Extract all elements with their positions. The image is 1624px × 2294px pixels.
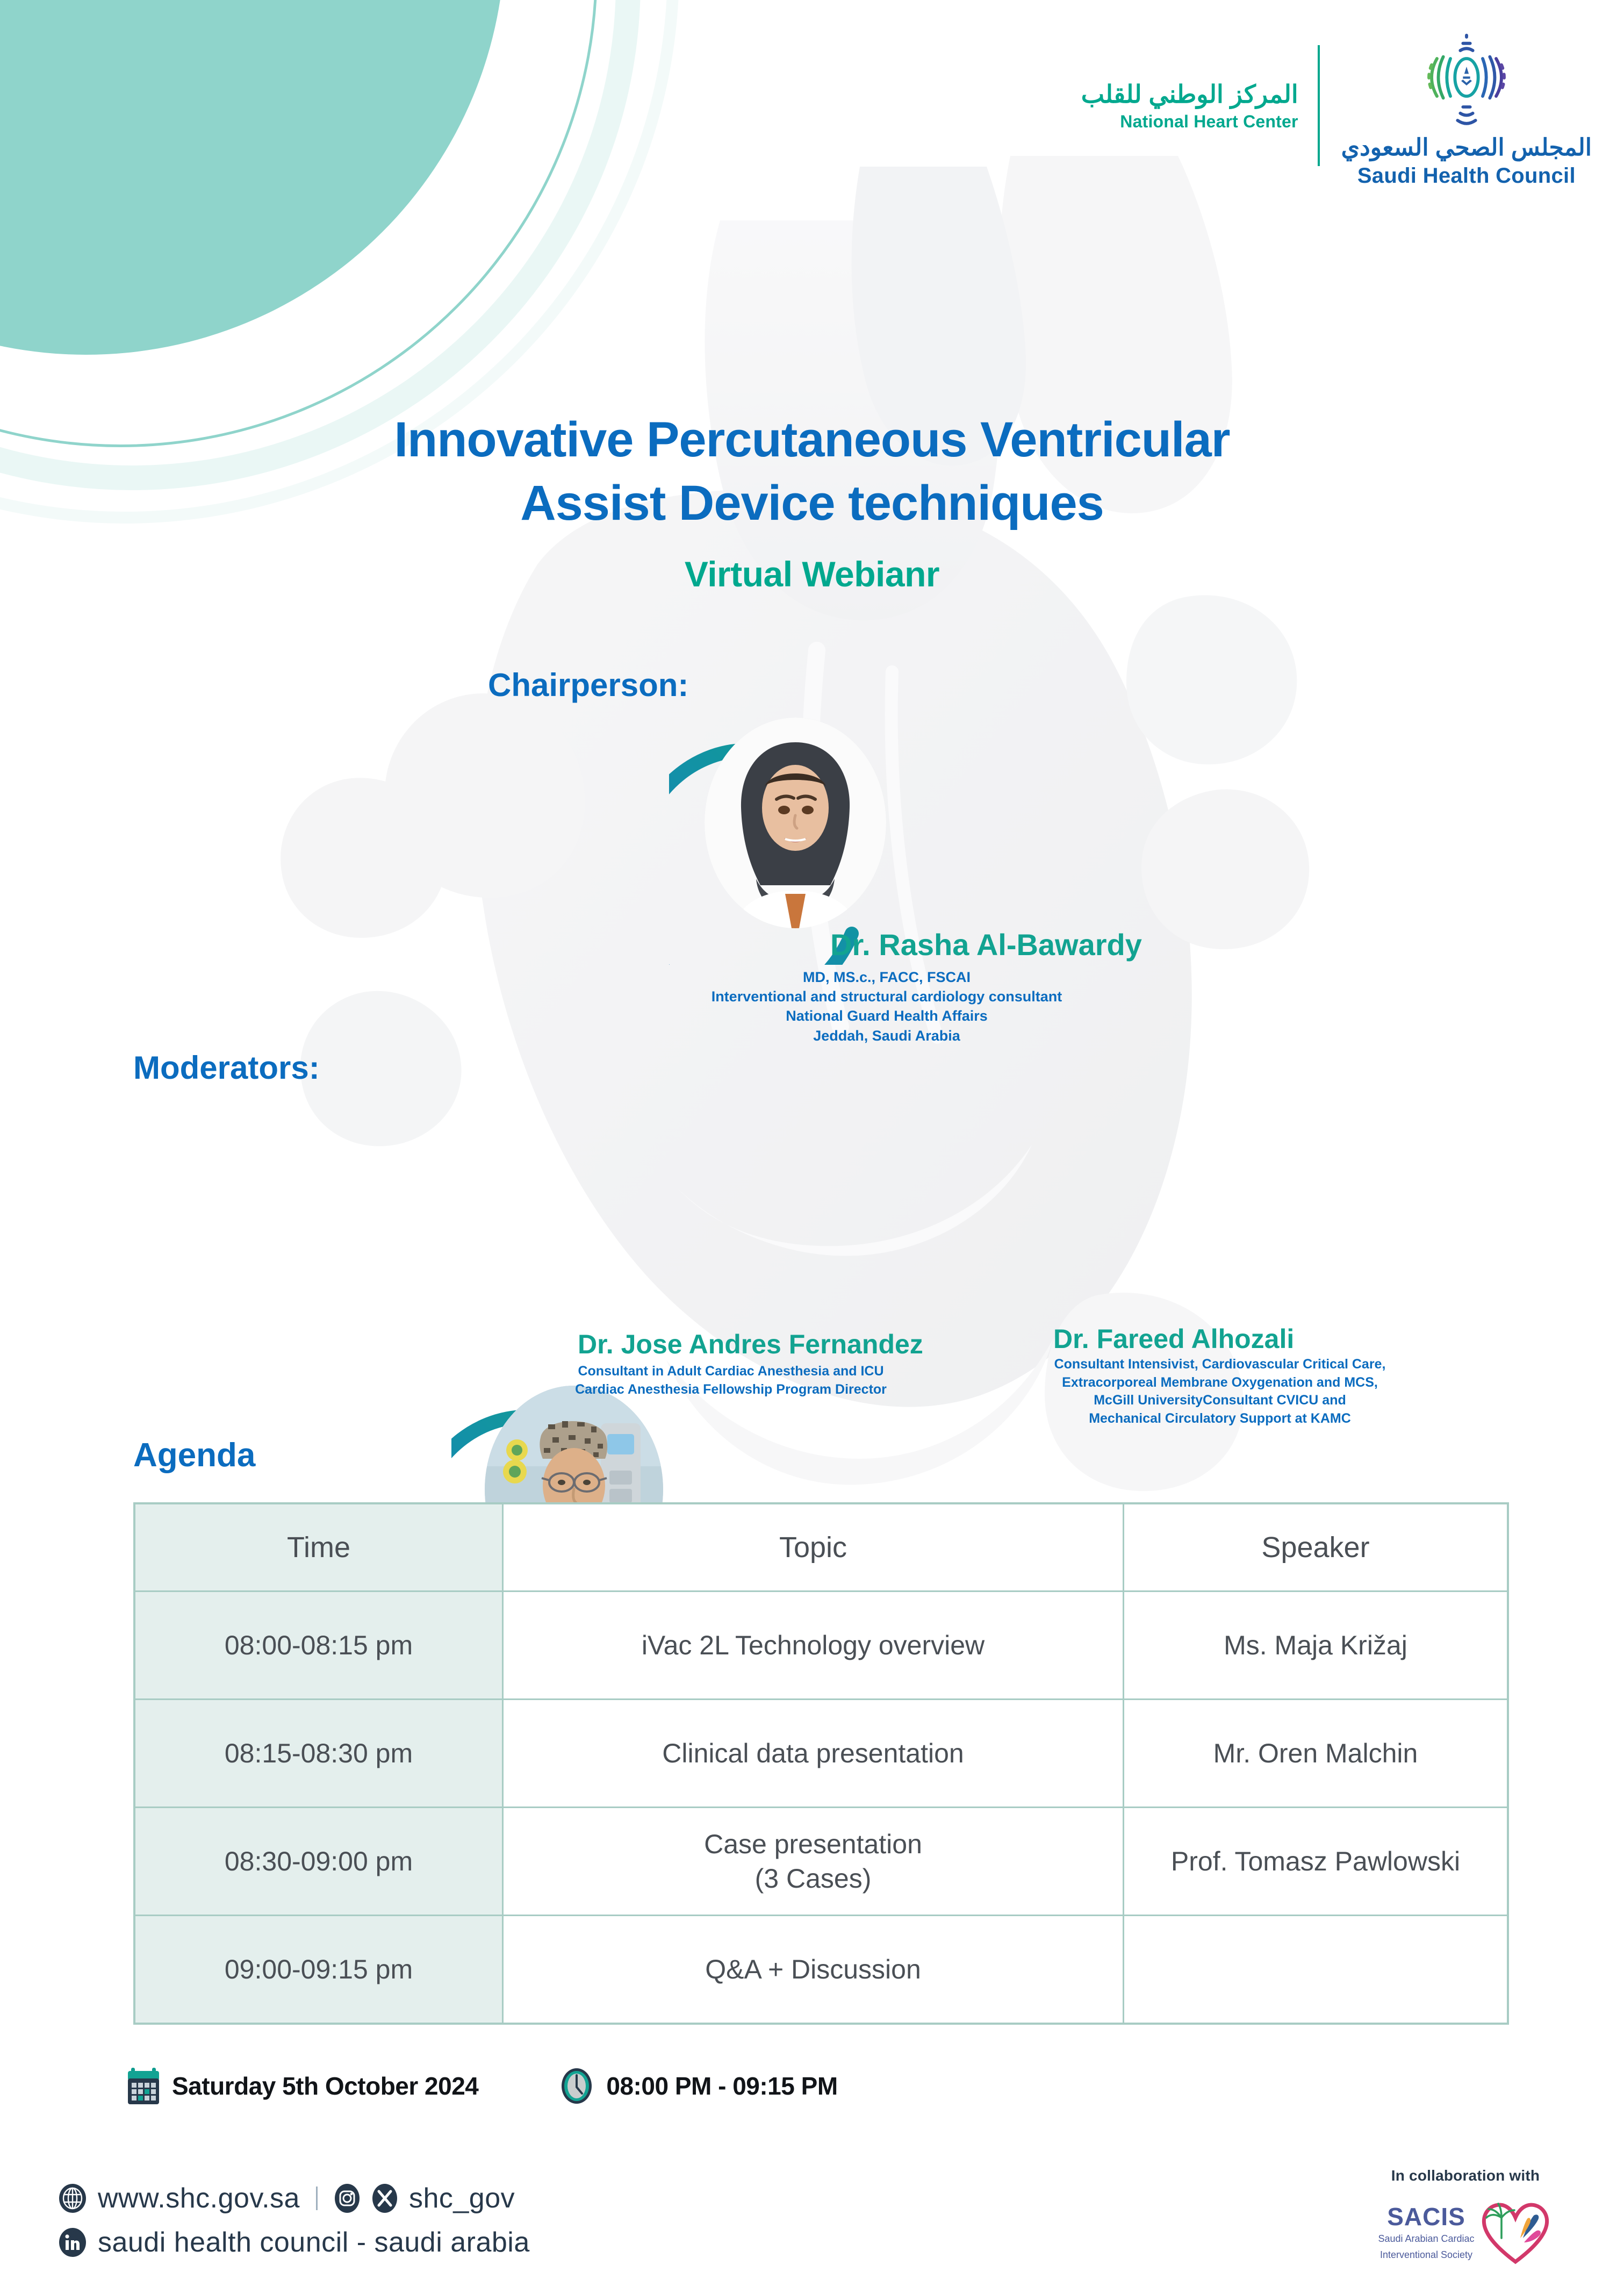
event-time-item: 08:00 PM - 09:15 PM	[559, 2067, 837, 2105]
agenda-heading: Agenda	[133, 1436, 255, 1474]
chairperson-name: Dr. Rasha Al-Bawardy	[830, 927, 1142, 962]
event-date-text: Saturday 5th October 2024	[172, 2071, 478, 2101]
moderator-1-credentials: Consultant in Adult Cardiac Anesthesia a…	[537, 1363, 924, 1399]
sacis-name-line-2: Interventional Society	[1380, 2248, 1472, 2261]
shc-arabic-name: المجلس الصحي السعودي	[1341, 134, 1592, 162]
event-datetime-row: Saturday 5th October 2024 08:00 PM - 09:…	[127, 2067, 838, 2105]
sacis-abbr: SACIS	[1387, 2204, 1465, 2229]
footer-contact: www.shc.gov.sa shc_gov saudi health coun…	[58, 2182, 530, 2270]
shc-english-name: Saudi Health Council	[1357, 164, 1576, 188]
cell-speaker	[1124, 1916, 1508, 2024]
table-row: 08:00-08:15 pm iVac 2L Technology overvi…	[134, 1592, 1508, 1700]
chairperson-portrait	[669, 691, 922, 965]
cell-speaker: Mr. Oren Malchin	[1124, 1700, 1508, 1808]
header-logos: المركز الوطني للقلب National Heart Cente…	[1081, 24, 1592, 188]
agenda-header-row: Time Topic Speaker	[134, 1503, 1508, 1592]
shc-emblem-icon	[1413, 24, 1520, 131]
footer-row-linkedin: saudi health council - saudi arabia	[58, 2226, 530, 2259]
x-twitter-icon[interactable]	[371, 2183, 398, 2214]
cell-topic: Clinical data presentation	[503, 1700, 1124, 1808]
table-row: 08:30-09:00 pm Case presentation (3 Case…	[134, 1808, 1508, 1916]
national-heart-center-logo: المركز الوطني للقلب National Heart Cente…	[1081, 80, 1318, 132]
sacis-wordmark: SACIS Saudi Arabian Cardiac Intervention…	[1378, 2204, 1474, 2262]
cell-time: 08:15-08:30 pm	[134, 1700, 503, 1808]
cell-topic: iVac 2L Technology overview	[503, 1592, 1124, 1700]
chairperson-credentials: MD, MS.c., FACC, FSCAI Interventional an…	[602, 967, 1172, 1045]
corner-arc-thin-teal	[0, 0, 598, 447]
moderator-2-credentials: Consultant Intensivist, Cardiovascular C…	[978, 1356, 1462, 1428]
website-text[interactable]: www.shc.gov.sa	[98, 2182, 300, 2214]
footer-row-web: www.shc.gov.sa shc_gov	[58, 2182, 530, 2214]
footer-divider	[316, 2187, 318, 2210]
poster-title-block: Innovative Percutaneous Ventricular Assi…	[0, 408, 1624, 594]
cell-topic: Case presentation (3 Cases)	[503, 1808, 1124, 1916]
column-header-topic: Topic	[503, 1503, 1124, 1592]
linkedin-icon[interactable]	[58, 2227, 87, 2258]
saudi-health-council-logo: المجلس الصحي السعودي Saudi Health Counci…	[1320, 24, 1592, 188]
moderators-label: Moderators:	[133, 1049, 320, 1086]
title-line-1: Innovative Percutaneous Ventricular	[0, 408, 1624, 472]
column-header-speaker: Speaker	[1124, 1503, 1508, 1592]
column-header-time: Time	[134, 1503, 503, 1592]
corner-arc-solid	[0, 0, 505, 355]
chairperson-photo	[705, 718, 886, 928]
collaboration-block: In collaboration with SACIS Saudi Arabia…	[1339, 2167, 1592, 2267]
cell-speaker: Prof. Tomasz Pawlowski	[1124, 1808, 1508, 1916]
agenda-table-head: Time Topic Speaker	[134, 1503, 1508, 1592]
clock-icon	[559, 2067, 594, 2105]
sacis-heart-icon	[1478, 2198, 1553, 2267]
sacis-logo: SACIS Saudi Arabian Cardiac Intervention…	[1339, 2198, 1592, 2267]
title-line-2: Assist Device techniques	[0, 472, 1624, 535]
globe-icon[interactable]	[58, 2183, 87, 2214]
collaboration-caption: In collaboration with	[1339, 2167, 1592, 2184]
chairperson-label: Chairperson:	[488, 666, 688, 704]
cell-topic: Q&A + Discussion	[503, 1916, 1124, 2024]
event-time-text: 08:00 PM - 09:15 PM	[606, 2071, 837, 2101]
nhc-english-name: National Heart Center	[1120, 112, 1298, 132]
instagram-icon[interactable]	[334, 2183, 361, 2214]
moderator-1-name: Dr. Jose Andres Fernandez	[578, 1329, 923, 1360]
linkedin-text[interactable]: saudi health council - saudi arabia	[98, 2226, 530, 2259]
event-date-item: Saturday 5th October 2024	[127, 2067, 478, 2105]
cell-time: 09:00-09:15 pm	[134, 1916, 503, 2024]
table-row: 08:15-08:30 pm Clinical data presentatio…	[134, 1700, 1508, 1808]
cell-speaker: Ms. Maja Križaj	[1124, 1592, 1508, 1700]
social-handle-text[interactable]: shc_gov	[409, 2182, 515, 2214]
poster-subtitle: Virtual Webianr	[0, 554, 1624, 594]
agenda-table-body: 08:00-08:15 pm iVac 2L Technology overvi…	[134, 1592, 1508, 2024]
table-row: 09:00-09:15 pm Q&A + Discussion	[134, 1916, 1508, 2024]
sacis-name-line-1: Saudi Arabian Cardiac	[1378, 2232, 1474, 2245]
agenda-table: Time Topic Speaker 08:00-08:15 pm iVac 2…	[133, 1502, 1509, 2025]
cell-time: 08:30-09:00 pm	[134, 1808, 503, 1916]
nhc-arabic-name: المركز الوطني للقلب	[1081, 80, 1298, 109]
calendar-icon	[127, 2067, 160, 2105]
cell-time: 08:00-08:15 pm	[134, 1592, 503, 1700]
moderator-2-name: Dr. Fareed Alhozali	[1053, 1323, 1294, 1354]
